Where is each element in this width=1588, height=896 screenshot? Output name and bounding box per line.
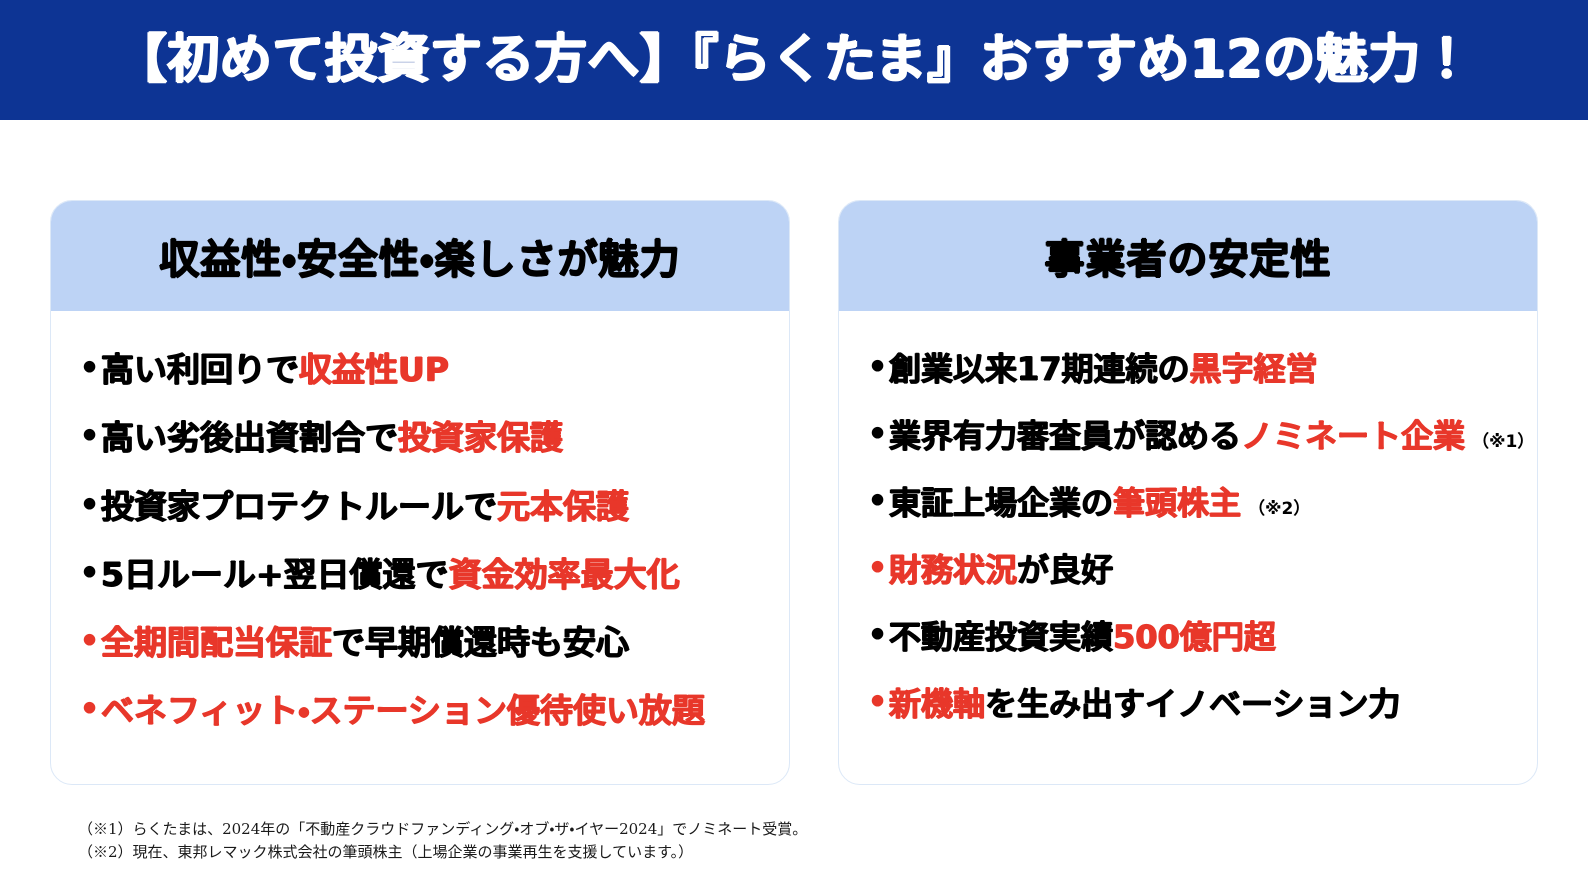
- page-title: 【初めて投資する方へ】『らくたま』おすすめ12の魅力！: [115, 33, 1473, 88]
- list-item-label: ベネフィット・ステーション優待使い放題: [101, 690, 705, 731]
- list-item-segment: ノミネート企業: [1241, 417, 1465, 455]
- list-item: •創業以来17期連続の黒字経営: [867, 349, 1527, 389]
- list-item-segment: 収益性UP: [299, 350, 449, 389]
- list-item-label: 投資家プロテクトルールで元本保護: [101, 486, 629, 527]
- list-item-label: 不動産投資実績500億円超: [889, 617, 1276, 657]
- card-header-right: 事業者の安定性: [839, 201, 1537, 311]
- bullet-dot-icon: •: [867, 551, 889, 584]
- list-item-segment: 東証上場企業の: [889, 484, 1113, 522]
- list-item: •5日ルール+翌日償還で資金効率最大化: [79, 554, 779, 595]
- list-item-segment: 黒字経営: [1190, 350, 1318, 388]
- slide-root: 【初めて投資する方へ】『らくたま』おすすめ12の魅力！ 収益性・安全性・楽しさが…: [0, 0, 1588, 896]
- bullet-dot-icon: •: [79, 419, 101, 452]
- list-item: •高い劣後出資割合で投資家保護: [79, 417, 779, 458]
- list-item: •不動産投資実績500億円超: [867, 617, 1527, 657]
- list-item-segment: 業界有力審査員が認める: [889, 417, 1241, 455]
- list-item-footnote-ref: （※1）: [1472, 432, 1534, 452]
- list-item-label: 全期間配当保証で早期償還時も安心: [101, 622, 629, 663]
- list-item-segment: 資金効率最大化: [449, 555, 680, 594]
- list-item-label: 業界有力審査員が認めるノミネート企業（※1）: [889, 416, 1534, 456]
- list-item-segment: ベネフィット・ステーション優待使い放題: [101, 691, 705, 730]
- bullet-dot-icon: •: [79, 488, 101, 521]
- list-item-label: 5日ルール+翌日償還で資金効率最大化: [101, 554, 680, 595]
- card-title-left: 収益性・安全性・楽しさが魅力: [159, 227, 680, 285]
- bullet-dot-icon: •: [867, 685, 889, 718]
- card-body-left: •高い利回りで収益性UP•高い劣後出資割合で投資家保護•投資家プロテクトルールで…: [51, 311, 789, 732]
- list-item: •東証上場企業の筆頭株主（※2）: [867, 483, 1527, 523]
- card-title-right: 事業者の安定性: [1045, 227, 1332, 285]
- list-item-segment: を生み出すイノベーション力: [985, 685, 1400, 723]
- list-item: •全期間配当保証で早期償還時も安心: [79, 622, 779, 663]
- list-item-footnote-ref: （※2）: [1248, 499, 1310, 519]
- bullet-dot-icon: •: [79, 351, 101, 384]
- list-item-segment: 投資家プロテクトルールで: [101, 487, 497, 526]
- bullet-dot-icon: •: [867, 350, 889, 383]
- bullet-dot-icon: •: [867, 417, 889, 450]
- list-item-segment: 不動産投資実績: [889, 618, 1113, 656]
- card-profitability-safety-fun: 収益性・安全性・楽しさが魅力 •高い利回りで収益性UP•高い劣後出資割合で投資家…: [50, 200, 790, 785]
- list-item: •投資家プロテクトルールで元本保護: [79, 486, 779, 527]
- list-item: •新機軸を生み出すイノベーション力: [867, 684, 1527, 724]
- bullet-dot-icon: •: [79, 624, 101, 657]
- footnote-2: （※2）現在、東邦レマック株式会社の筆頭株主（上場企業の事業再生を支援しています…: [78, 841, 1078, 864]
- list-item-label: 創業以来17期連続の黒字経営: [889, 349, 1318, 389]
- card-operator-stability: 事業者の安定性 •創業以来17期連続の黒字経営•業界有力審査員が認めるノミネート…: [838, 200, 1538, 785]
- list-item-label: 東証上場企業の筆頭株主（※2）: [889, 483, 1310, 523]
- list-item-segment: 財務状況: [889, 551, 1017, 589]
- list-item: •ベネフィット・ステーション優待使い放題: [79, 690, 779, 731]
- bullet-dot-icon: •: [867, 484, 889, 517]
- list-item: •高い利回りで収益性UP: [79, 349, 779, 390]
- list-item-segment: 元本保護: [497, 487, 629, 526]
- list-item-label: 高い劣後出資割合で投資家保護: [101, 417, 563, 458]
- list-item-segment: 高い劣後出資割合で: [101, 418, 398, 457]
- list-item-segment: 全期間配当保証: [101, 623, 332, 662]
- list-item-label: 財務状況が良好: [889, 550, 1113, 590]
- list-item-segment: 高い利回りで: [101, 350, 299, 389]
- bullet-list-right: •創業以来17期連続の黒字経営•業界有力審査員が認めるノミネート企業（※1）•東…: [839, 349, 1537, 724]
- list-item-segment: 投資家保護: [398, 418, 563, 457]
- list-item-segment: 5日ルール+翌日償還で: [101, 555, 449, 594]
- list-item: •財務状況が良好: [867, 550, 1527, 590]
- list-item: •業界有力審査員が認めるノミネート企業（※1）: [867, 416, 1527, 456]
- list-item-segment: 500億円超: [1113, 618, 1276, 656]
- footnote-1: （※1）らくたまは、2024年の「不動産クラウドファンディング・オブ・ザ・イヤー…: [78, 818, 1078, 841]
- list-item-label: 高い利回りで収益性UP: [101, 349, 449, 390]
- list-item-segment: 筆頭株主: [1113, 484, 1241, 522]
- bullet-dot-icon: •: [79, 692, 101, 725]
- cards-container: 収益性・安全性・楽しさが魅力 •高い利回りで収益性UP•高い劣後出資割合で投資家…: [0, 120, 1588, 810]
- bullet-dot-icon: •: [79, 556, 101, 589]
- list-item-segment: 新機軸: [889, 685, 985, 723]
- card-body-right: •創業以来17期連続の黒字経営•業界有力審査員が認めるノミネート企業（※1）•東…: [839, 311, 1537, 724]
- list-item-segment: が良好: [1017, 551, 1113, 589]
- footnotes: （※1）らくたまは、2024年の「不動産クラウドファンディング・オブ・ザ・イヤー…: [78, 818, 1078, 865]
- header-banner: 【初めて投資する方へ】『らくたま』おすすめ12の魅力！: [0, 0, 1588, 120]
- bullet-dot-icon: •: [867, 618, 889, 651]
- list-item-segment: 創業以来17期連続の: [889, 350, 1190, 388]
- card-header-left: 収益性・安全性・楽しさが魅力: [51, 201, 789, 311]
- bullet-list-left: •高い利回りで収益性UP•高い劣後出資割合で投資家保護•投資家プロテクトルールで…: [51, 349, 789, 732]
- list-item-label: 新機軸を生み出すイノベーション力: [889, 684, 1400, 724]
- list-item-segment: で早期償還時も安心: [332, 623, 629, 662]
